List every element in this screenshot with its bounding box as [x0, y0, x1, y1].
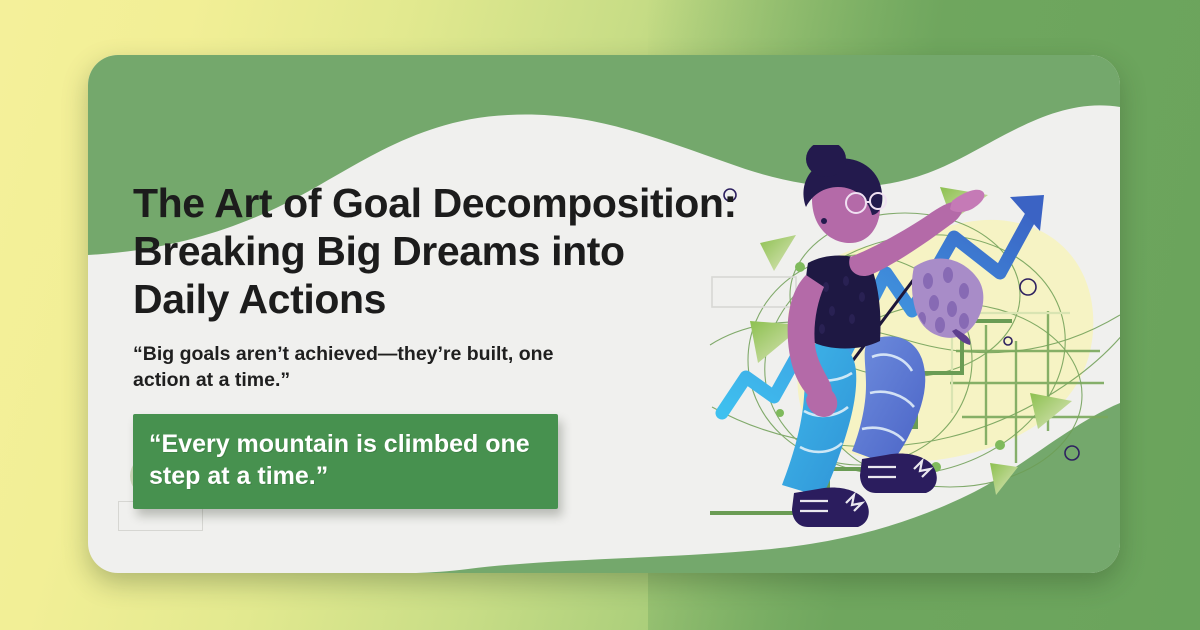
- page-title: The Art of Goal Decomposition: Breaking …: [133, 180, 753, 324]
- subtitle-quote: “Big goals aren’t achieved—they’re built…: [133, 342, 753, 394]
- highlight-quote-text: “Every mountain is climbed one step at a…: [149, 428, 530, 493]
- content-card: The Art of Goal Decomposition: Breaking …: [88, 55, 1120, 573]
- text-block: The Art of Goal Decomposition: Breaking …: [133, 180, 753, 509]
- poster-canvas: The Art of Goal Decomposition: Breaking …: [0, 0, 1200, 630]
- highlight-quote-band: “Every mountain is climbed one step at a…: [133, 414, 558, 509]
- hero-illustration: [700, 145, 1120, 573]
- earring: [821, 218, 827, 224]
